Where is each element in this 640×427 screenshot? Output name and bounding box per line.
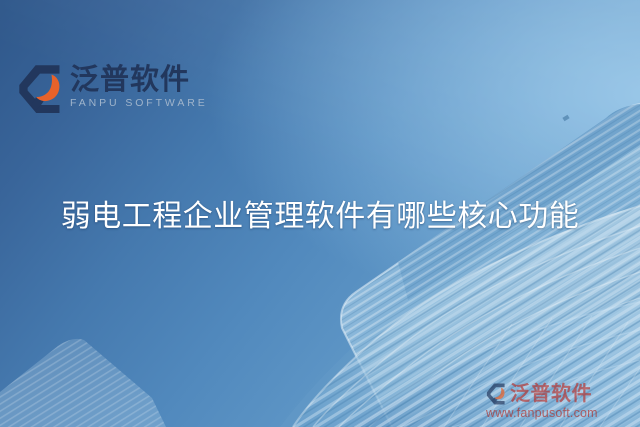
atmospheric-haze — [280, 100, 640, 427]
brand-name-en: FANPU SOFTWARE — [70, 98, 208, 109]
brand-logo-text: 泛普软件 FANPU SOFTWARE — [70, 62, 208, 109]
promo-banner: 泛普软件 FANPU SOFTWARE 弱电工程企业管理软件有哪些核心功能 泛普… — [0, 0, 640, 427]
brand-logo: 泛普软件 FANPU SOFTWARE — [18, 62, 208, 114]
facade-window-detail — [562, 115, 569, 122]
banner-headline: 弱电工程企业管理软件有哪些核心功能 — [0, 199, 640, 235]
fanpu-hexagon-logo-icon — [18, 64, 62, 114]
brand-name-cn: 泛普软件 — [70, 65, 208, 95]
